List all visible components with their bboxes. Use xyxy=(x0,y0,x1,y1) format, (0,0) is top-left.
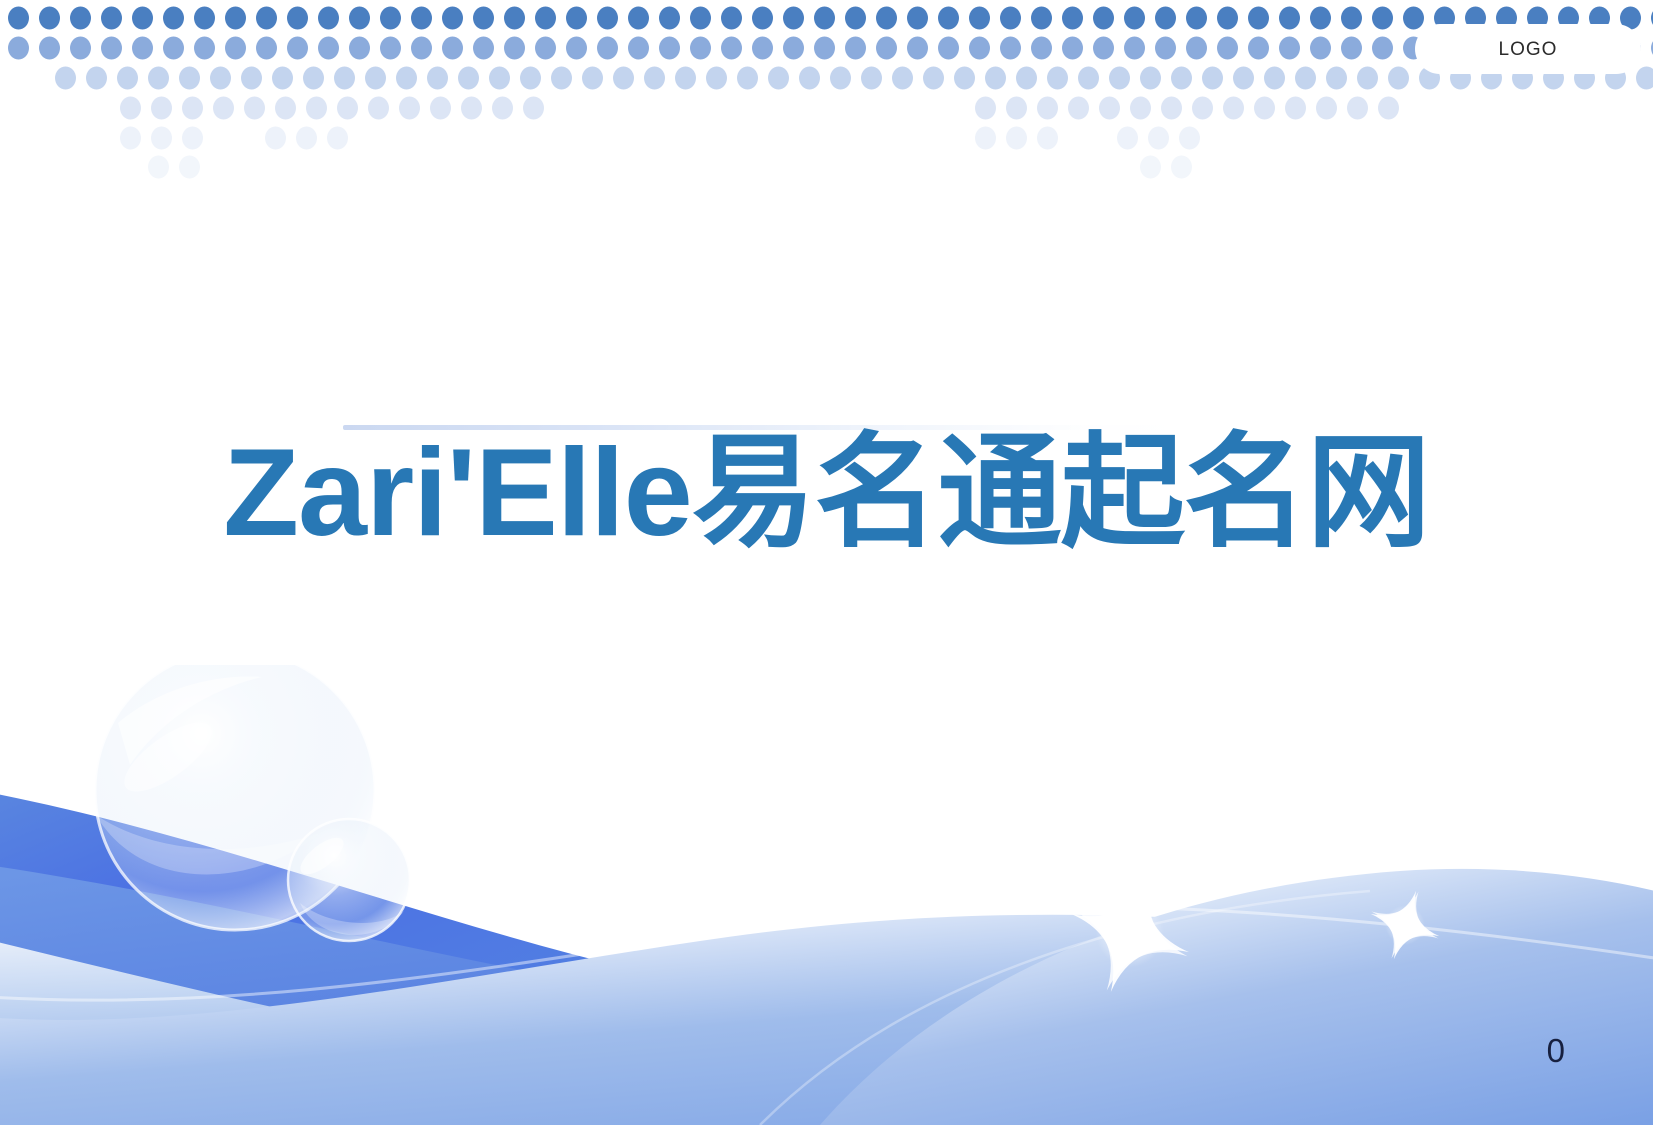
page-number: 0 xyxy=(1547,1034,1565,1067)
wave-graphic xyxy=(0,665,1653,1125)
page-title: Zari'Elle易名通起名网 xyxy=(0,422,1653,565)
logo-placeholder[interactable]: LOGO xyxy=(1415,24,1641,74)
logo-label: LOGO xyxy=(1499,40,1558,59)
dot-grid-pattern xyxy=(0,0,1653,200)
presentation-slide: LOGO Zari'Elle易名通起名网 xyxy=(0,0,1653,1125)
